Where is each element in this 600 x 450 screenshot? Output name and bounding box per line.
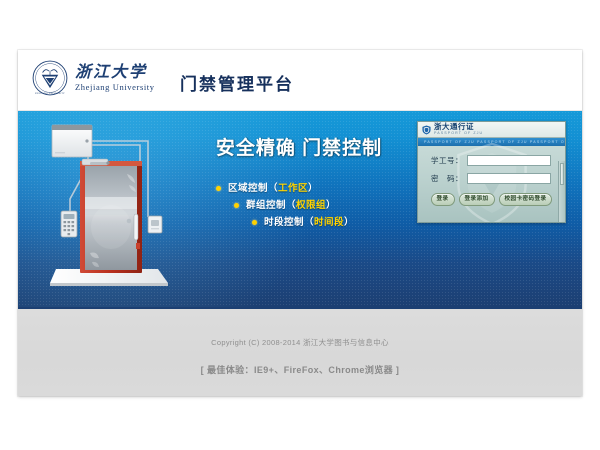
login-panel-body: 学工号： 密 码： 登录 登录添加 校园卡密码登录: [418, 146, 565, 223]
page-container: ZHEJIANG UNIVERSITY 浙江大学 Zhejiang Univer…: [18, 50, 582, 396]
login-panel: 浙大通行证 PASSPORT OF ZJU PASSPORT OF ZJU PA…: [417, 121, 566, 223]
bullet-dot-icon: [216, 186, 221, 191]
login-panel-title-en: PASSPORT OF ZJU: [434, 132, 483, 136]
password-input[interactable]: [467, 173, 551, 184]
door-access-control-illustration: [30, 119, 200, 299]
feature-text-before: 群组控制（: [246, 197, 296, 214]
hero-banner: 安全精确 门禁控制 区域控制（工作区） 群组控制（权限组） 时段控制（时间段）: [18, 111, 582, 307]
login-panel-strip: PASSPORT OF ZJU PASSPORT OF ZJU PASSPORT…: [418, 138, 565, 146]
login-button-row: 登录 登录添加 校园卡密码登录: [418, 193, 565, 206]
login-row-id: 学工号：: [427, 155, 565, 166]
brand-names: 浙江大学 Zhejiang University: [75, 64, 155, 93]
login-panel-title-text: 浙大通行证 PASSPORT OF ZJU: [434, 123, 483, 135]
controller-box: [52, 125, 92, 157]
login-label-id: 学工号：: [427, 155, 463, 166]
svg-text:ZHEJIANG UNIVERSITY: ZHEJIANG UNIVERSITY: [35, 92, 65, 95]
app-root: ZHEJIANG UNIVERSITY 浙江大学 Zhejiang Univer…: [0, 0, 600, 450]
login-add-button[interactable]: 登录添加: [459, 193, 495, 206]
feature-highlight: 权限组: [296, 197, 326, 214]
login-row-password: 密 码：: [427, 173, 565, 184]
campus-card-password-login-button[interactable]: 校园卡密码登录: [499, 193, 553, 206]
login-panel-title-cn: 浙大通行证: [434, 123, 483, 131]
scrollbar-thumb[interactable]: [560, 163, 564, 185]
shield-icon: [422, 125, 431, 135]
footer-copyright: Copyright (C) 2008-2014 浙江大学图书与信息中心: [18, 337, 582, 348]
feature-item-time-control: 时段控制（时间段）: [190, 214, 408, 231]
brand-name-cn: 浙江大学: [75, 64, 155, 82]
feature-text-after: ）: [344, 214, 354, 231]
feature-highlight: 工作区: [278, 180, 308, 197]
student-staff-id-input[interactable]: [467, 155, 551, 166]
feature-item-area-control: 区域控制（工作区）: [190, 180, 408, 197]
footer-browser-note: [ 最佳体验：IE9+、FireFox、Chrome浏览器 ]: [18, 363, 582, 376]
zju-seal-icon: ZHEJIANG UNIVERSITY: [32, 60, 68, 96]
exit-button-panel: [148, 216, 162, 233]
brand-name-en: Zhejiang University: [75, 82, 155, 93]
bullet-dot-icon: [252, 220, 257, 225]
slogan-headline: 安全精确 门禁控制: [190, 133, 408, 160]
feature-text-before: 时段控制（: [264, 214, 314, 231]
feature-highlight: 时间段: [314, 214, 344, 231]
page-title: 门禁管理平台: [180, 70, 294, 95]
login-label-password: 密 码：: [427, 173, 463, 184]
login-panel-titlebar: 浙大通行证 PASSPORT OF ZJU: [418, 122, 565, 138]
feature-text-before: 区域控制（: [228, 180, 278, 197]
feature-item-group-control: 群组控制（权限组）: [190, 197, 408, 214]
login-panel-scrollbar[interactable]: [558, 161, 565, 223]
site-header: ZHEJIANG UNIVERSITY 浙江大学 Zhejiang Univer…: [18, 50, 582, 111]
feature-text-after: ）: [326, 197, 336, 214]
slogan-block: 安全精确 门禁控制 区域控制（工作区） 群组控制（权限组） 时段控制（时间段）: [190, 133, 408, 231]
site-footer: Copyright (C) 2008-2014 浙江大学图书与信息中心 [ 最佳…: [18, 307, 582, 396]
feature-text-after: ）: [308, 180, 318, 197]
brand-block[interactable]: ZHEJIANG UNIVERSITY 浙江大学 Zhejiang Univer…: [32, 60, 155, 96]
feature-list: 区域控制（工作区） 群组控制（权限组） 时段控制（时间段）: [190, 180, 408, 231]
bullet-dot-icon: [234, 203, 239, 208]
login-panel-strip-text: PASSPORT OF ZJU PASSPORT OF ZJU PASSPORT…: [418, 140, 565, 144]
card-reader-keypad: [61, 211, 77, 237]
login-button[interactable]: 登录: [431, 193, 455, 206]
